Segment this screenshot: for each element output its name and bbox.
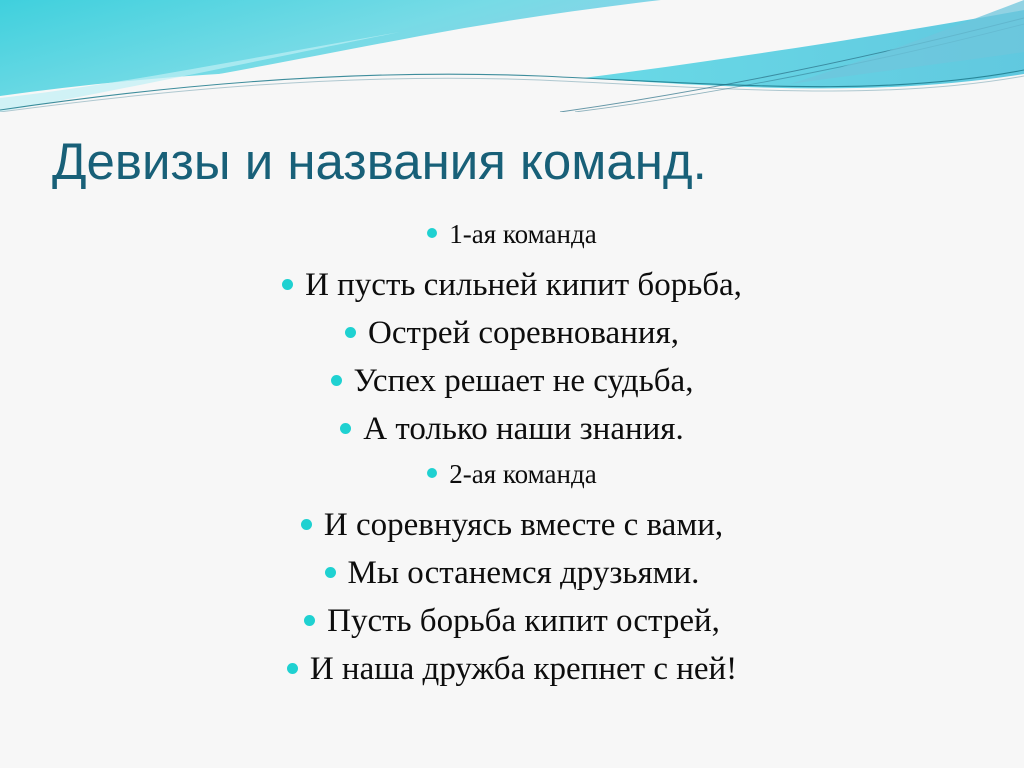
list-item-label: Пусть борьба кипит острей,	[327, 603, 720, 640]
bullet-dot-icon	[301, 519, 312, 530]
list-item: Успех решает не судьба,	[62, 363, 962, 411]
list-item: 2-ая команда	[62, 459, 962, 507]
wave-banner-decoration	[0, 0, 1024, 112]
list-item: И пусть сильней кипит борьба,	[62, 267, 962, 315]
list-item-label: 2-ая команда	[449, 459, 596, 490]
wave-banner-svg	[0, 0, 1024, 112]
list-item-label: И наша дружба крепнет с ней!	[310, 651, 737, 688]
list-item: Пусть борьба кипит острей,	[62, 603, 962, 651]
bullet-dot-icon	[427, 228, 437, 238]
list-item-label: И соревнуясь вместе с вами,	[324, 507, 723, 544]
list-item: 1-ая команда	[62, 219, 962, 267]
list-item-label: 1-ая команда	[449, 219, 596, 250]
list-item-label: Острей соревнования,	[368, 315, 679, 352]
bullet-dot-icon	[340, 423, 351, 434]
list-item-label: Мы останемся друзьями.	[348, 555, 700, 592]
slide-title: Девизы и названия команд.	[52, 131, 982, 193]
list-item: Острей соревнования,	[62, 315, 962, 363]
bullet-dot-icon	[304, 615, 315, 626]
bullet-dot-icon	[287, 663, 298, 674]
list-item: А только наши знания.	[62, 411, 962, 459]
bullet-list: 1-ая команда И пусть сильней кипит борьб…	[62, 219, 962, 699]
list-item: И соревнуясь вместе с вами,	[62, 507, 962, 555]
list-item: И наша дружба крепнет с ней!	[62, 651, 962, 699]
bullet-dot-icon	[331, 375, 342, 386]
list-item-label: Успех решает не судьба,	[354, 363, 694, 400]
bullet-dot-icon	[427, 468, 437, 478]
list-item-label: А только наши знания.	[363, 411, 683, 448]
bullet-dot-icon	[345, 327, 356, 338]
presentation-slide: Девизы и названия команд. 1-ая команда И…	[0, 0, 1024, 768]
bullet-dot-icon	[282, 279, 293, 290]
list-item: Мы останемся друзьями.	[62, 555, 962, 603]
list-item-label: И пусть сильней кипит борьба,	[305, 267, 742, 304]
bullet-dot-icon	[325, 567, 336, 578]
